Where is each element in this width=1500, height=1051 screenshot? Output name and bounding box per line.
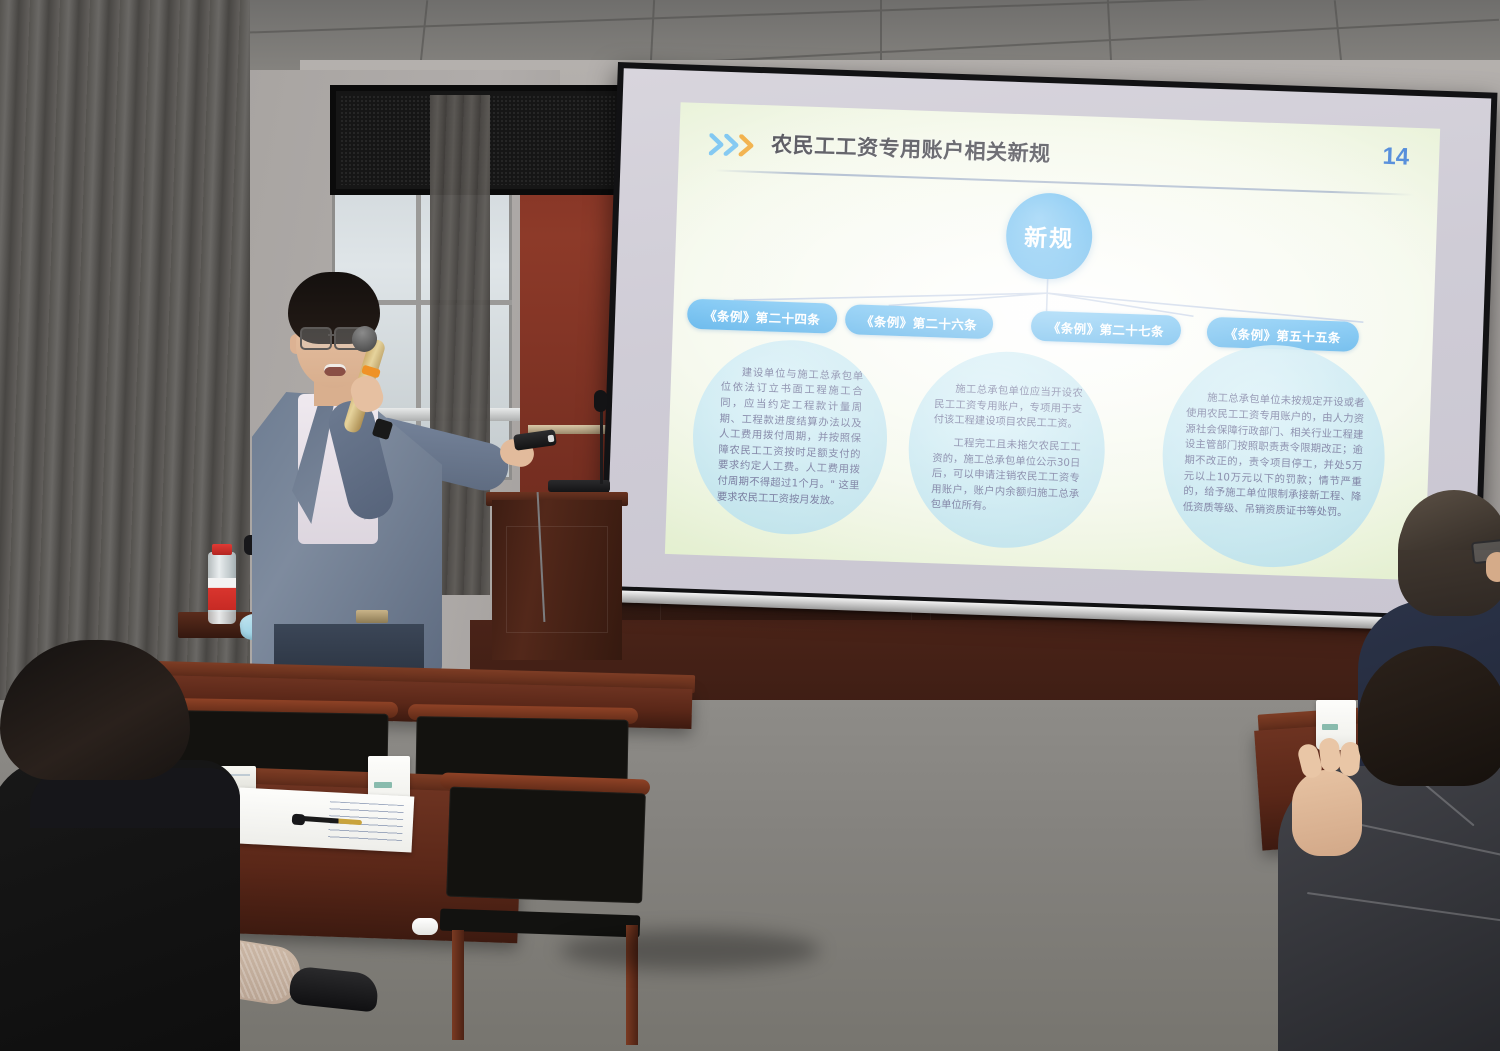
presentation-slide: 农民工工资专用账户相关新规 14 新规 xyxy=(665,102,1440,580)
presenter xyxy=(252,272,542,672)
projection-screen-assembly: 农民工工资专用账户相关新规 14 新规 xyxy=(597,62,1500,693)
presenter-belt xyxy=(356,610,388,623)
center-node-new-regulations: 新规 xyxy=(1005,192,1094,281)
audience-person-right-gray xyxy=(1358,646,1500,1051)
branch-pill-4-label: 《条例》第五十五条 xyxy=(1225,323,1342,346)
audience-woman-front-left xyxy=(0,640,390,1051)
glasses-left-lens-icon xyxy=(300,327,332,350)
branch-pill-2: 《条例》第二十六条 xyxy=(845,304,994,339)
branch-bubble-4-text: 施工总承包单位未按规定开设或者使用农民工工资专用账户的，由人力资源社会保障行政部… xyxy=(1183,390,1365,521)
slide-header: 农民工工资专用账户相关新规 14 xyxy=(708,125,1415,190)
presenter-remote-button xyxy=(548,435,555,443)
water-bottle-label xyxy=(208,578,236,610)
branch-bubble-2: 施工总承包单位应当开设农民工工资专用账户，专项用于支付该工程建设项目农民工工资。… xyxy=(905,348,1108,551)
branch-bubble-1-text: 建设单位与施工总承包单位依法订立书面工程施工合同，应当约定工程款计量周期、工程款… xyxy=(717,364,864,510)
branch-pill-1: 《条例》第二十四条 xyxy=(687,299,838,334)
floor-shadow xyxy=(560,930,820,970)
gooseneck-microphone-head xyxy=(594,390,607,412)
water-bottle-cap xyxy=(212,544,232,555)
branch-pill-3-label: 《条例》第二十七条 xyxy=(1048,317,1165,340)
branch-pill-2-label: 《条例》第二十六条 xyxy=(861,310,978,333)
presenter-mouth xyxy=(324,364,346,376)
slide-title: 农民工工资专用账户相关新规 xyxy=(771,128,1051,168)
audience-man-ear xyxy=(1486,552,1500,582)
branch-bubble-2-text-b: 工程完工且未拖欠农民工工资的，施工总承包单位公示30日后，可以申请注销农民工工资… xyxy=(930,435,1081,518)
slide-page-number: 14 xyxy=(1382,143,1410,172)
branch-bubble-1: 建设单位与施工总承包单位依法订立书面工程施工合同，应当约定工程款计量周期、工程款… xyxy=(690,337,891,538)
center-node-label: 新规 xyxy=(1024,218,1075,254)
branch-pill-1-label: 《条例》第二十四条 xyxy=(704,305,821,328)
chair-back-3[interactable] xyxy=(446,787,646,904)
glasses-bridge xyxy=(328,334,336,336)
chevron-arrows-icon xyxy=(709,133,766,157)
conference-room-photo: 农民工工资专用账户相关新规 14 新规 xyxy=(0,0,1500,1051)
crumpled-tissue xyxy=(412,918,438,935)
branch-pill-3: 《条例》第二十七条 xyxy=(1031,311,1182,346)
audience-gray-hair xyxy=(1358,646,1500,786)
screen-frame: 农民工工资专用账户相关新规 14 新规 xyxy=(600,62,1498,622)
branch-bubble-4: 施工总承包单位未按规定开设或者使用农民工工资专用账户的，由人力资源社会保障行政部… xyxy=(1159,341,1389,571)
audience-gray-hand xyxy=(1292,770,1362,856)
audience-woman-hair xyxy=(0,640,190,780)
audience-woman-shoe xyxy=(288,966,379,1013)
branch-bubble-2-text-a: 施工总承包单位应当开设农民工工资专用账户，专项用于支付该工程建设项目农民工工资。 xyxy=(933,381,1083,433)
chair-leg-3 xyxy=(452,930,464,1040)
